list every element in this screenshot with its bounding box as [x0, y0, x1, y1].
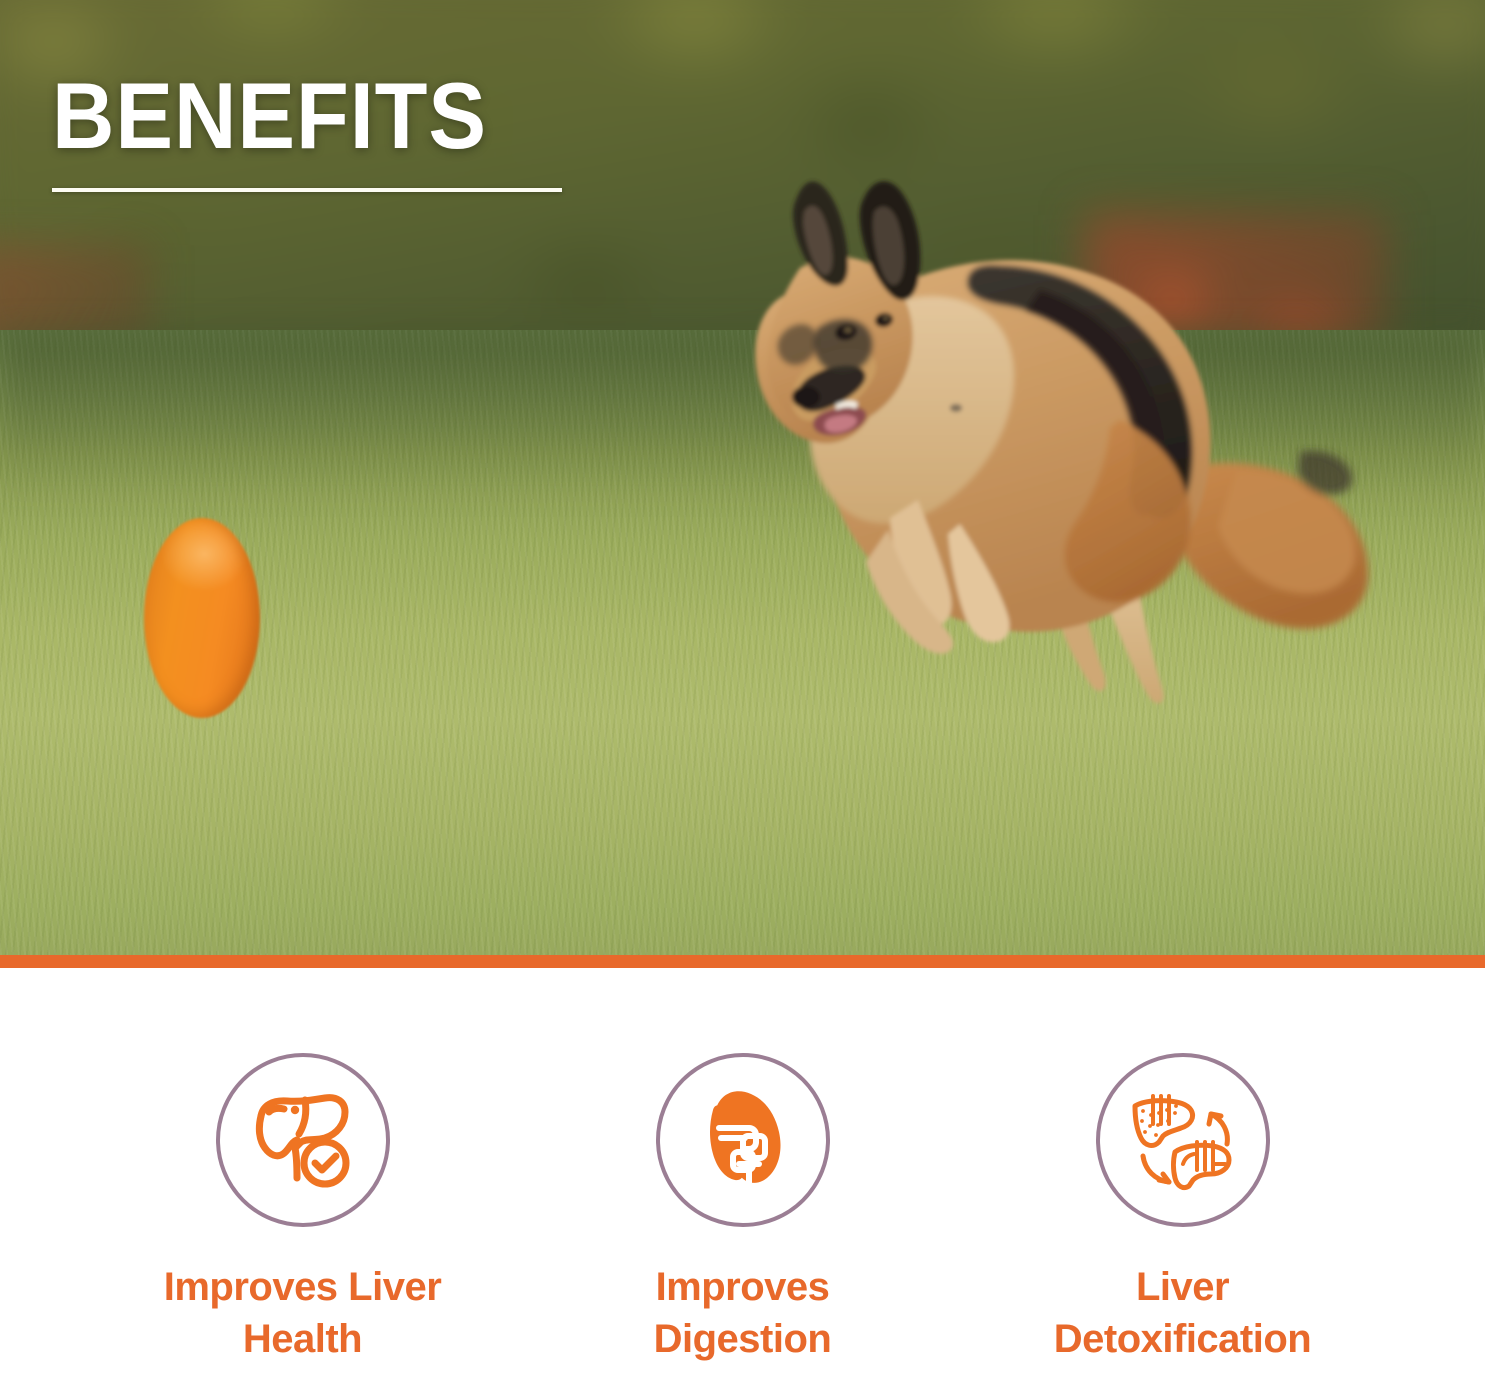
orange-divider-bar — [0, 955, 1485, 968]
benefit-item-digestion: Improves Digestion — [523, 968, 963, 1365]
hero-heading-block: BENEFITS — [52, 68, 752, 192]
liver-check-icon — [216, 1053, 390, 1227]
benefits-infographic-page: BENEFITS — [0, 0, 1485, 1381]
page-title: BENEFITS — [52, 68, 696, 164]
benefit-label-line1: Liver — [1054, 1261, 1311, 1313]
benefits-row: Improves Liver Health — [0, 968, 1485, 1381]
benefit-label-line1: Improves — [654, 1261, 832, 1313]
benefit-label-liver-health: Improves Liver Health — [164, 1261, 442, 1365]
benefit-label-digestion: Improves Digestion — [654, 1261, 832, 1365]
benefit-label-line2: Detoxification — [1054, 1313, 1311, 1365]
dog-digestion-icon — [656, 1053, 830, 1227]
hero-photo: BENEFITS — [0, 0, 1485, 955]
benefit-label-line1: Improves Liver — [164, 1261, 442, 1313]
benefit-label-liver-detox: Liver Detoxification — [1054, 1261, 1311, 1365]
benefit-label-line2: Health — [164, 1313, 442, 1365]
benefit-label-line2: Digestion — [654, 1313, 832, 1365]
heading-underline — [52, 188, 562, 192]
benefit-item-liver-detox: Liver Detoxification — [963, 968, 1403, 1365]
liver-detox-cycle-icon — [1096, 1053, 1270, 1227]
benefit-item-liver-health: Improves Liver Health — [83, 968, 523, 1365]
